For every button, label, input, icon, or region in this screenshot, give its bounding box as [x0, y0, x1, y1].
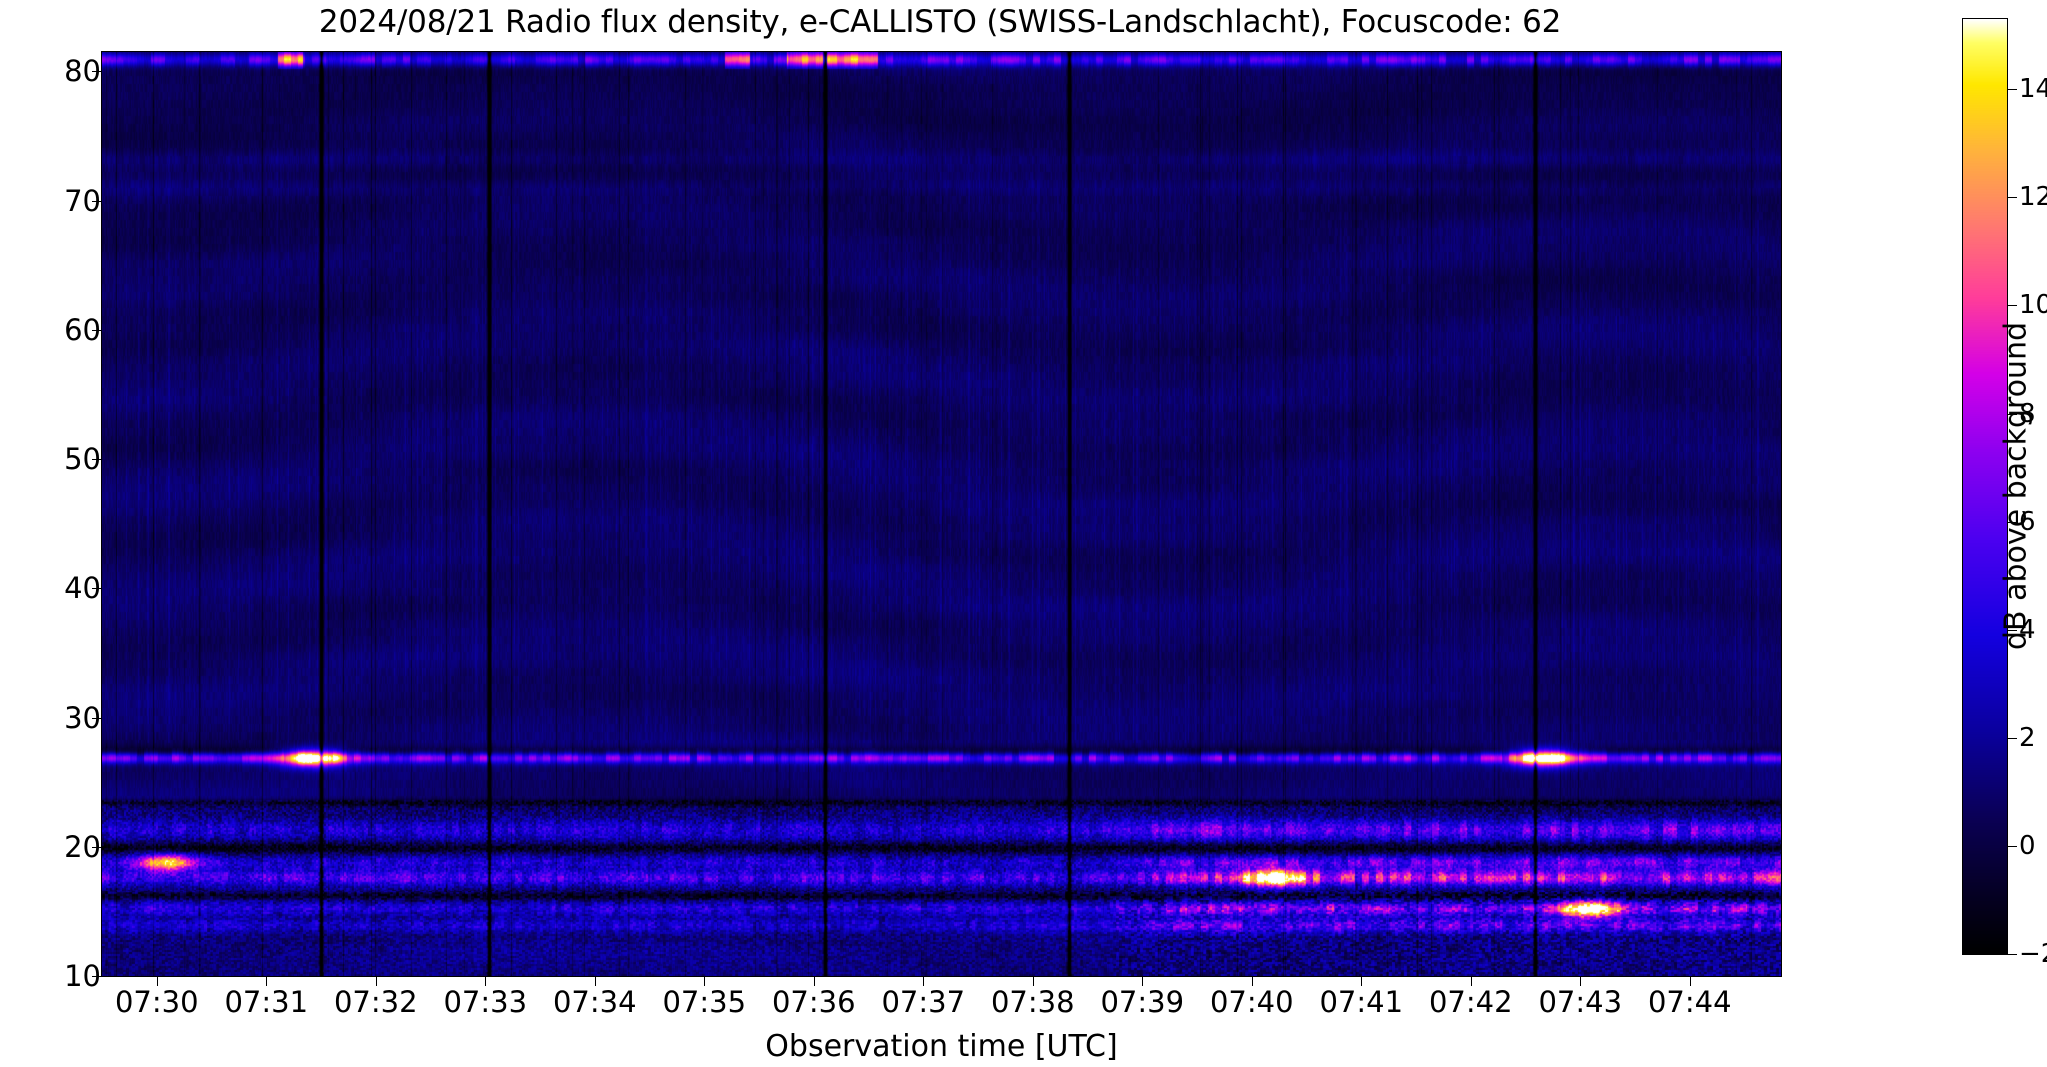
x-axis-tick-mark: [1361, 977, 1362, 986]
x-axis-tick-mark: [1142, 977, 1143, 986]
x-axis-tick-mark: [157, 977, 158, 986]
x-axis-tick-label: 07:44: [1648, 985, 1732, 1019]
x-axis-tick-label: 07:40: [1210, 985, 1294, 1019]
x-axis-tick-label: 07:32: [334, 985, 418, 1019]
y-axis-tick-mark: [92, 976, 101, 977]
x-axis-tick-mark: [1690, 977, 1691, 986]
y-axis-tick-mark: [92, 201, 101, 202]
colorbar-tick-mark: [2008, 738, 2017, 739]
x-axis-tick-label: 07:34: [553, 985, 637, 1019]
y-axis-tick-mark: [92, 718, 101, 719]
colorbar-tick-mark: [2008, 305, 2017, 306]
y-axis-tick-mark: [92, 330, 101, 331]
spectrogram-canvas[interactable]: [102, 52, 1781, 976]
x-axis-tick-label: 07:37: [881, 985, 965, 1019]
x-axis-tick-mark: [376, 977, 377, 986]
y-axis: Frequency [MHz] 8070605040302010: [0, 51, 101, 977]
colorbar-tick-label: 12: [2019, 182, 2047, 212]
x-axis-tick-label: 07:30: [115, 985, 199, 1019]
spectrogram-plot-area[interactable]: [101, 51, 1782, 977]
colorbar-tick-label: 10: [2019, 290, 2047, 320]
chart-root: 2024/08/21 Radio flux density, e-CALLIST…: [0, 0, 2047, 1067]
colorbar-tick-label: 14: [2019, 74, 2047, 104]
x-axis-tick-label: 07:41: [1319, 985, 1403, 1019]
page-title: 2024/08/21 Radio flux density, e-CALLIST…: [0, 4, 1880, 40]
colorbar-tick-mark: [2008, 846, 2017, 847]
x-axis-tick-label: 07:33: [443, 985, 527, 1019]
y-axis-tick-mark: [92, 459, 101, 460]
x-axis-label: Observation time [UTC]: [101, 1029, 1782, 1064]
x-axis-tick-label: 07:38: [991, 985, 1075, 1019]
x-axis-tick-mark: [704, 977, 705, 986]
colorbar-tick-label: 2: [2019, 723, 2036, 753]
x-axis-tick-mark: [595, 977, 596, 986]
x-axis-tick-mark: [485, 977, 486, 986]
x-axis-tick-label: 07:39: [1100, 985, 1184, 1019]
x-axis-tick-label: 07:36: [772, 985, 856, 1019]
colorbar-tick-mark: [2008, 954, 2017, 955]
colorbar-tick-mark: [2008, 89, 2017, 90]
x-axis-tick-mark: [1580, 977, 1581, 986]
colorbar-tick-mark: [2008, 197, 2017, 198]
x-axis-tick-mark: [1033, 977, 1034, 986]
x-axis-tick-mark: [266, 977, 267, 986]
x-axis-tick-label: 07:42: [1429, 985, 1513, 1019]
x-axis-tick-label: 07:31: [224, 985, 308, 1019]
x-axis-tick-label: 07:43: [1538, 985, 1622, 1019]
x-axis-tick-label: 07:35: [662, 985, 746, 1019]
x-axis: Observation time [UTC] 07:3007:3107:3207…: [101, 977, 1782, 1067]
x-axis-tick-mark: [923, 977, 924, 986]
y-axis-tick-mark: [92, 847, 101, 848]
colorbar-label: dB above background: [1999, 322, 2034, 650]
colorbar-tick-label: −2: [2019, 939, 2047, 969]
x-axis-tick-mark: [1252, 977, 1253, 986]
x-axis-tick-mark: [1471, 977, 1472, 986]
y-axis-tick-mark: [92, 71, 101, 72]
colorbar-tick-label: 0: [2019, 831, 2036, 861]
y-axis-tick-mark: [92, 588, 101, 589]
x-axis-tick-mark: [814, 977, 815, 986]
